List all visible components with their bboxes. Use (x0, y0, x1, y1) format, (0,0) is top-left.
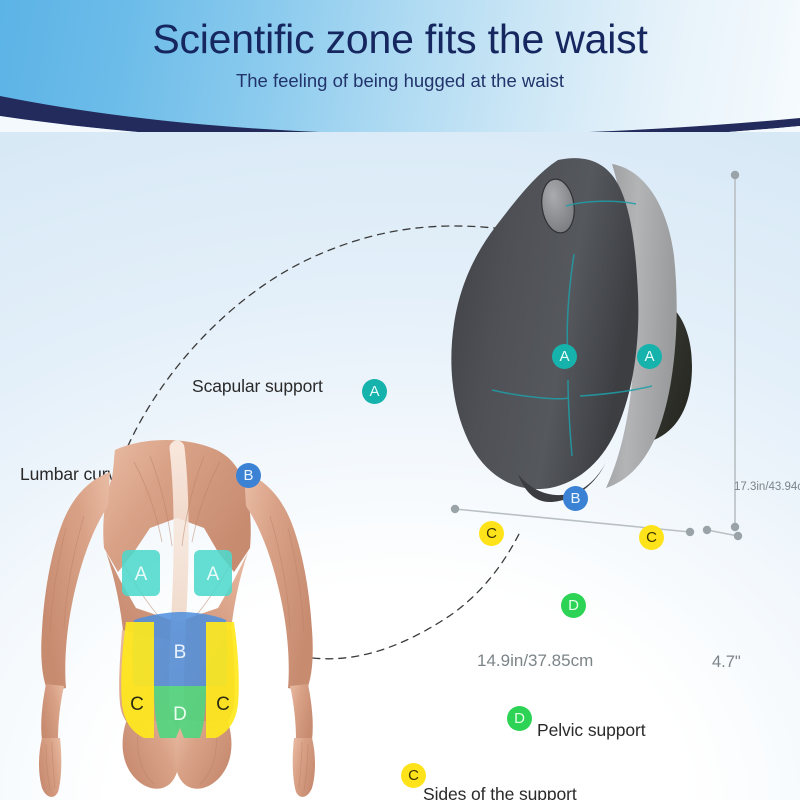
cushion-marker-b: B (563, 486, 588, 511)
callout-badge-b: B (236, 463, 261, 488)
anatomy-illustration-back-muscles: A A B C C D (22, 432, 332, 800)
cushion-marker-a-left: A (552, 344, 577, 369)
anatomy-arm-left (39, 472, 110, 797)
anatomy-zone-label-a-left: A (135, 564, 148, 585)
diagram-stage: A A B C C D Scapular support Lumbar curv… (0, 132, 800, 800)
dimension-label-depth: 4.7" (712, 653, 741, 672)
anatomy-zone-label-d: D (173, 704, 187, 725)
leader-arc-lower (300, 532, 520, 659)
callout-badge-c: C (401, 763, 426, 788)
page-title: Scientific zone fits the waist (0, 0, 800, 64)
anatomy-zone-label-b: B (174, 642, 187, 663)
callout-label-pelvic-support: Pelvic support (537, 720, 646, 741)
cushion-marker-c-left: C (479, 521, 504, 546)
cushion-marker-a-right: A (637, 344, 662, 369)
cushion-marker-d: D (561, 593, 586, 618)
page-subtitle: The feeling of being hugged at the waist (0, 64, 800, 92)
dimension-label-height: 17.3in/43.94cm (734, 481, 800, 493)
anatomy-zone-label-c-left: C (130, 694, 144, 715)
callout-badge-d: D (507, 706, 532, 731)
cushion-marker-c-right: C (639, 525, 664, 550)
dimension-height (731, 171, 739, 531)
product-image-lumbar-cushion (440, 144, 730, 534)
anatomy-zone-label-a-right: A (207, 564, 220, 585)
header-text-block: Scientific zone fits the waist The feeli… (0, 0, 800, 92)
callout-label-scapular-support: Scapular support (192, 376, 323, 397)
header-banner: Scientific zone fits the waist The feeli… (0, 0, 800, 132)
infographic-page: Scientific zone fits the waist The feeli… (0, 0, 800, 800)
anatomy-zone-label-c-right: C (216, 694, 230, 715)
callout-badge-a: A (362, 379, 387, 404)
dimension-label-width: 14.9in/37.85cm (477, 651, 593, 671)
anatomy-zone-c-right (206, 622, 239, 738)
callout-label-sides-of-the-support: Sides of the support (423, 784, 577, 800)
anatomy-arm-right (244, 472, 315, 797)
